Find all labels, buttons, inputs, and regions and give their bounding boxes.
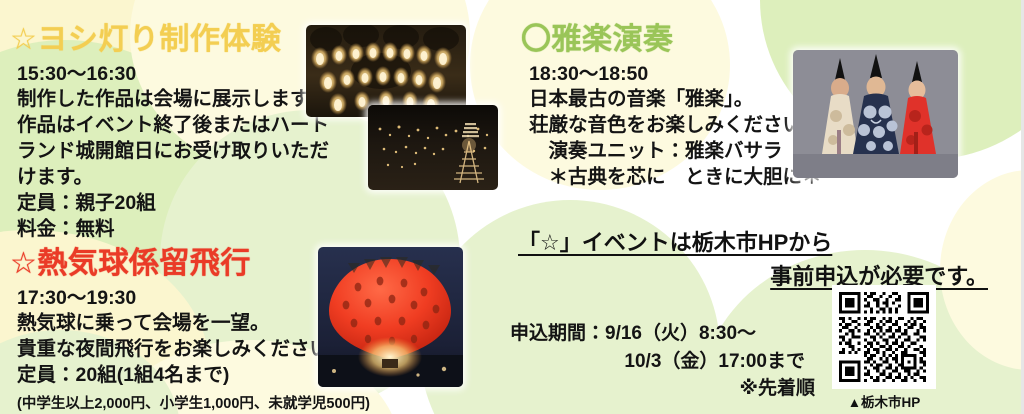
section-balloon-fineprint: (中学生以上2,000円、小学生1,000円、未就学児500円)	[17, 392, 370, 413]
section-balloon-body: 17:30～19:30 熱気球に乗って会場を一望。 貴重な夜間飛行をお楽しみくだ…	[17, 286, 370, 390]
section-yoshi-heading: ☆ヨシ灯り制作体験	[10, 24, 329, 56]
qr-code-caption: ▲栃木市HP	[832, 391, 936, 411]
section-yoshi-line-6: 定員：親子20組	[17, 191, 329, 217]
section-balloon-line-4: 定員：20組(1組4名まで)	[17, 363, 370, 389]
photo-gagaku-performers	[793, 50, 958, 178]
section-yoshi-line-3: 作品はイベント終了後またはハート	[17, 113, 329, 139]
section-balloon-line-2: 熱気球に乗って会場を一望。	[17, 311, 370, 337]
photo-lantern-night-scene	[368, 105, 498, 190]
section-gagaku-body: 18:30～18:50 日本最古の音楽「雅楽」。 荘厳な音色をお楽しみください。…	[529, 62, 822, 192]
qr-code-image[interactable]	[832, 285, 936, 389]
registration-notice-line-1: 「☆」イベントは栃木市HPから	[518, 226, 988, 260]
photo-hot-air-balloon	[318, 247, 463, 387]
section-yoshi-line-1: 15:30～16:30	[17, 62, 329, 88]
section-yoshi-line-7: 料金：無料	[17, 217, 329, 243]
section-yoshi-line-2: 制作した作品は会場に展示します。	[17, 87, 329, 113]
section-yoshi-line-5: けます。	[17, 165, 329, 191]
registration-notice: 「☆」イベントは栃木市HPから 事前申込が必要です。	[518, 226, 988, 294]
section-gagaku-line-5: ＊古典を芯に ときに大胆に＊	[529, 165, 822, 191]
section-yoshi-body: 15:30～16:30 制作した作品は会場に展示します。 作品はイベント終了後ま…	[17, 62, 329, 243]
application-order-note: ※先着順	[510, 375, 815, 403]
section-balloon-line-3: 貴重な夜間飛行をお楽しみください。	[17, 337, 370, 363]
section-gagaku-heading: 〇雅楽演奏	[521, 24, 822, 56]
section-balloon: ☆熱気球係留飛行 17:30～19:30 熱気球に乗って会場を一望。 貴重な夜間…	[10, 248, 370, 413]
section-balloon-heading: ☆熱気球係留飛行	[10, 248, 370, 280]
application-period-end: 10/3（金）17:00まで	[510, 348, 815, 376]
section-yoshi-line-4: ランド城開館日にお受け取りいただ	[17, 139, 329, 165]
section-gagaku-line-4: 演奏ユニット：雅楽バサラ	[529, 139, 822, 165]
section-gagaku-line-1: 18:30～18:50	[529, 62, 822, 88]
application-period-start: 申込期間：9/16（火）8:30～	[510, 320, 815, 348]
section-balloon-line-1: 17:30～19:30	[17, 286, 370, 312]
section-gagaku: 〇雅楽演奏 18:30～18:50 日本最古の音楽「雅楽」。 荘厳な音色をお楽し…	[521, 24, 822, 191]
section-gagaku-line-2: 日本最古の音楽「雅楽」。	[529, 87, 822, 113]
photo-lantern-rows	[306, 25, 466, 117]
qr-code-block[interactable]: ▲栃木市HP	[832, 285, 936, 411]
flyer-canvas: ☆ヨシ灯り制作体験 15:30～16:30 制作した作品は会場に展示します。 作…	[0, 0, 1024, 414]
application-period: 申込期間：9/16（火）8:30～ 10/3（金）17:00まで ※先着順	[510, 320, 815, 403]
section-gagaku-line-3: 荘厳な音色をお楽しみください。	[529, 113, 822, 139]
section-yoshi: ☆ヨシ灯り制作体験 15:30～16:30 制作した作品は会場に展示します。 作…	[10, 24, 329, 243]
